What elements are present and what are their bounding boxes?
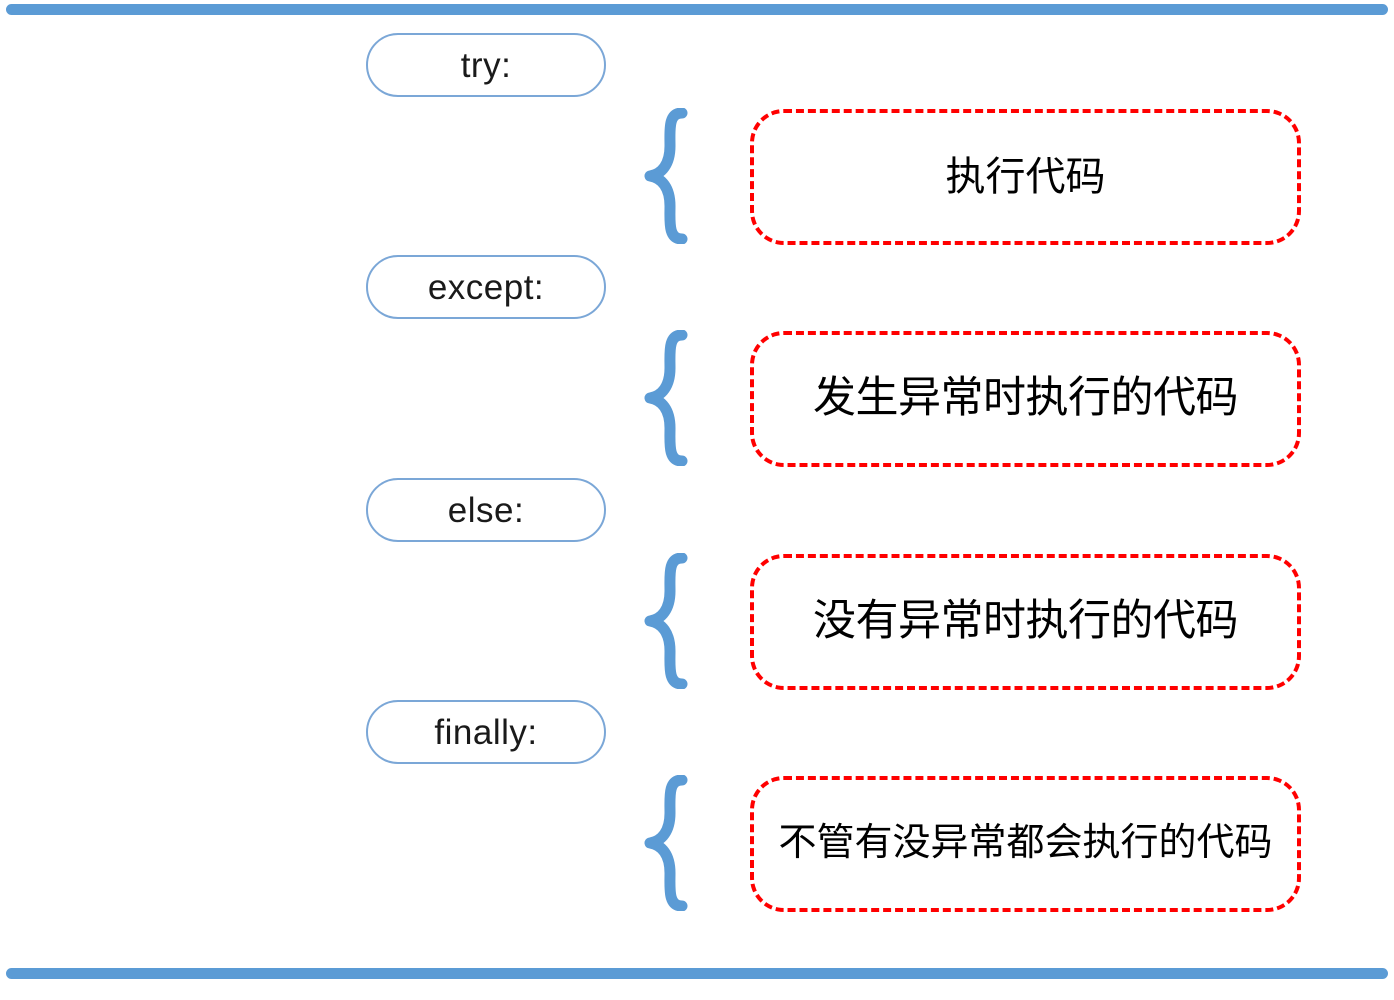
brace-icon-else bbox=[638, 553, 690, 689]
code-box-label-else: 没有异常时执行的代码 bbox=[813, 598, 1238, 645]
diagram-canvas: try: 执行代码 except: 发生异常时执行的代码 else: 没有异常时… bbox=[0, 0, 1394, 1000]
keyword-pill-try[interactable]: try: bbox=[366, 33, 606, 97]
brace-icon-finally bbox=[638, 775, 690, 911]
code-box-except: 发生异常时执行的代码 bbox=[750, 331, 1301, 467]
bottom-divider bbox=[6, 968, 1388, 979]
top-divider bbox=[6, 4, 1388, 15]
keyword-label-try: try: bbox=[461, 48, 512, 83]
keyword-label-finally: finally: bbox=[434, 715, 537, 750]
code-box-else: 没有异常时执行的代码 bbox=[750, 554, 1301, 690]
code-box-finally: 不管有没异常都会执行的代码 bbox=[750, 776, 1301, 912]
code-box-try: 执行代码 bbox=[750, 109, 1301, 245]
keyword-label-else: else: bbox=[448, 493, 524, 528]
brace-icon-try bbox=[638, 108, 690, 244]
keyword-pill-finally[interactable]: finally: bbox=[366, 700, 606, 764]
code-box-label-try: 执行代码 bbox=[946, 155, 1106, 199]
brace-icon-except bbox=[638, 330, 690, 466]
keyword-pill-except[interactable]: except: bbox=[366, 255, 606, 319]
code-box-label-finally: 不管有没异常都会执行的代码 bbox=[778, 823, 1272, 865]
code-box-label-except: 发生异常时执行的代码 bbox=[813, 375, 1238, 422]
keyword-pill-else[interactable]: else: bbox=[366, 478, 606, 542]
keyword-label-except: except: bbox=[428, 270, 544, 305]
